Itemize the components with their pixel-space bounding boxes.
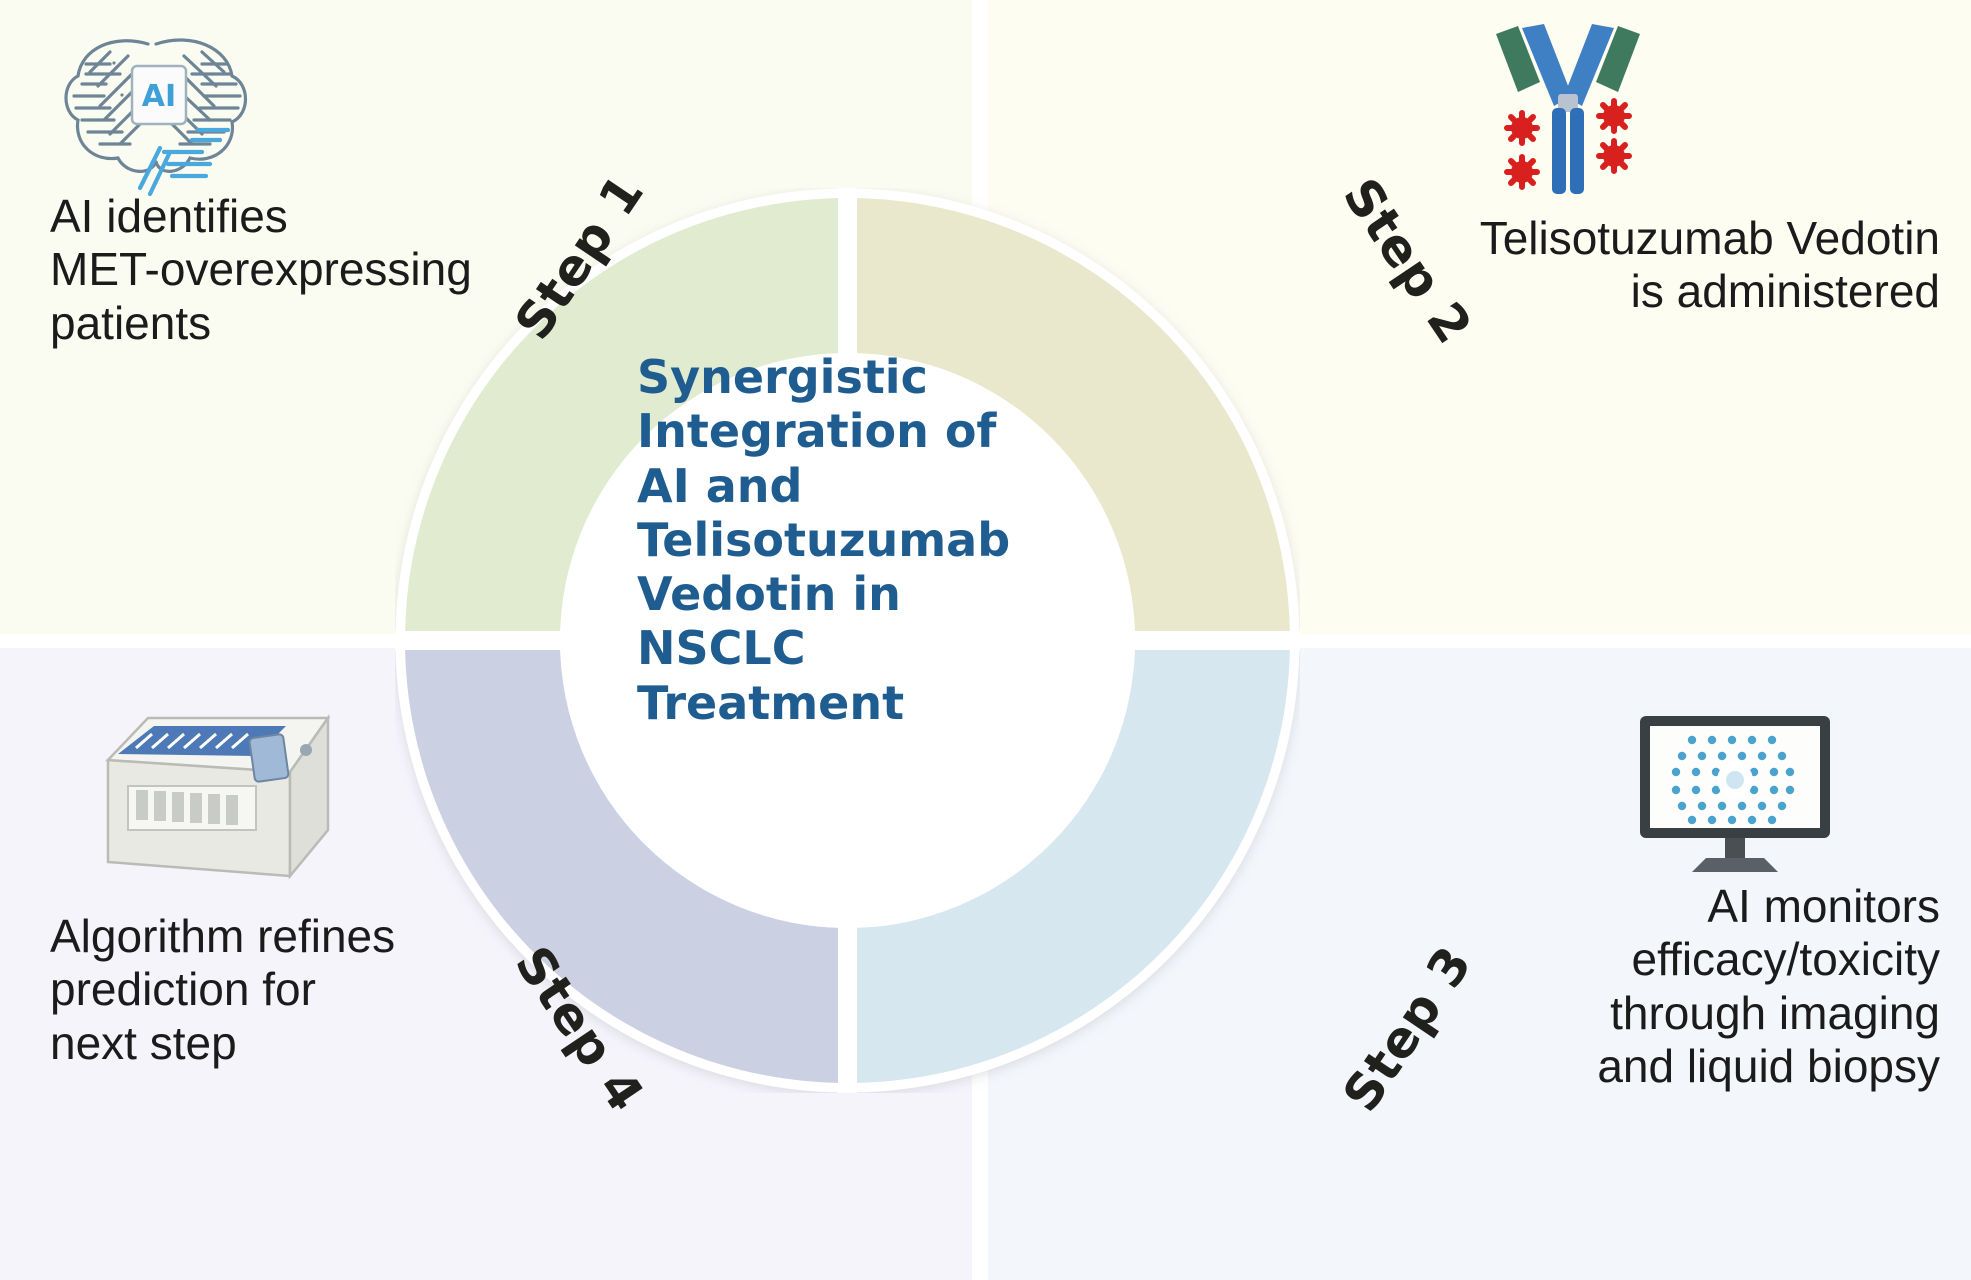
monitor-base [1692, 858, 1778, 872]
step2-caption: Telisotuzumab Vedotin is administered [1320, 212, 1940, 319]
step1-caption: AI identifies MET-overexpressing patient… [50, 190, 610, 350]
step3-caption: AI monitors efficacy/toxicity through im… [1370, 880, 1940, 1093]
ai-chip-label: AI [142, 79, 176, 114]
analyzer-display [249, 734, 289, 782]
ai-brain-circuit-icon: AI [52, 22, 264, 198]
lab-analyzer-machine-icon [90, 690, 340, 890]
analyzer-knob [300, 744, 312, 756]
antibody-payloads [1507, 101, 1629, 187]
antibody-fc-left [1552, 108, 1566, 194]
antibody-drug-conjugate-icon [1478, 20, 1658, 198]
infographic-canvas: Step 1 Step 2 Step 3 Step 4 Synergistic … [0, 0, 1971, 1280]
antibody-fc-right [1570, 108, 1584, 194]
monitor-neck [1725, 838, 1745, 860]
monitor-core [1726, 771, 1744, 789]
monitor-ai-analysis-icon [1630, 710, 1840, 880]
step4-caption: Algorithm refines prediction for next st… [50, 910, 610, 1070]
center-title: Synergistic Integration of AI and Teliso… [637, 350, 1057, 730]
